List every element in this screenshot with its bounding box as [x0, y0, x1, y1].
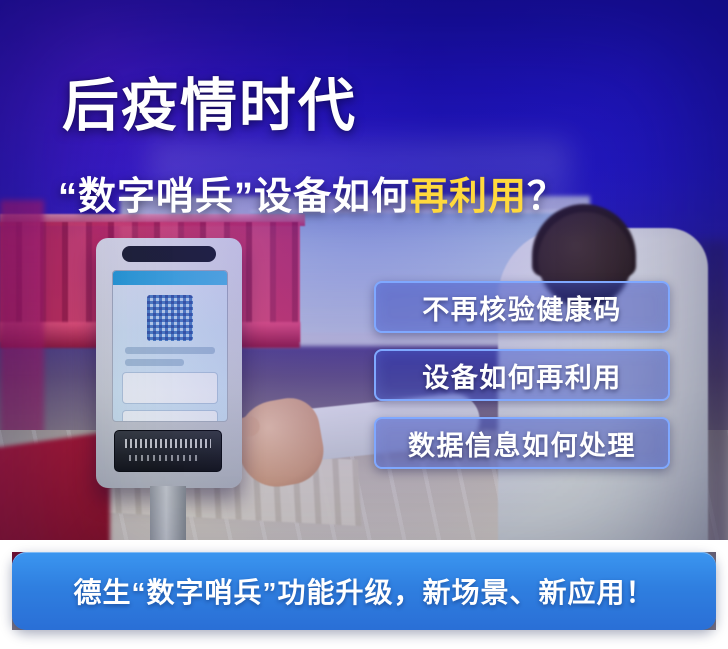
bullet-item-2-label: 设备如何再利用: [422, 356, 622, 395]
subtitle-text-before: “数字哨兵”设备如何: [58, 176, 410, 218]
bottom-banner-label: 德生“数字哨兵”功能升级，新场景、新应用！: [73, 571, 654, 611]
banner-bottom-margin: [0, 630, 728, 649]
bullet-item-2[interactable]: 设备如何再利用: [374, 349, 670, 401]
bullet-list: 不再核验健康码 设备如何再利用 数据信息如何处理: [374, 281, 670, 485]
poster-image: 后疫情时代 “数字哨兵”设备如何再利用？ 不再核验健康码 设备如何再利用 数据信…: [0, 0, 728, 649]
subtitle: “数字哨兵”设备如何再利用？: [58, 178, 566, 216]
bullet-item-3-label: 数据信息如何处理: [408, 424, 636, 463]
banner-top-margin: [0, 540, 728, 552]
bullet-item-1-label: 不再核验健康码: [422, 288, 622, 327]
bottom-banner[interactable]: 德生“数字哨兵”功能升级，新场景、新应用！: [12, 552, 716, 630]
page-title: 后疫情时代: [62, 78, 357, 135]
subtitle-text-after: ？: [527, 176, 566, 218]
bullet-item-1[interactable]: 不再核验健康码: [374, 281, 670, 333]
bullet-item-3[interactable]: 数据信息如何处理: [374, 417, 670, 469]
subtitle-highlight: 再利用: [410, 176, 527, 218]
